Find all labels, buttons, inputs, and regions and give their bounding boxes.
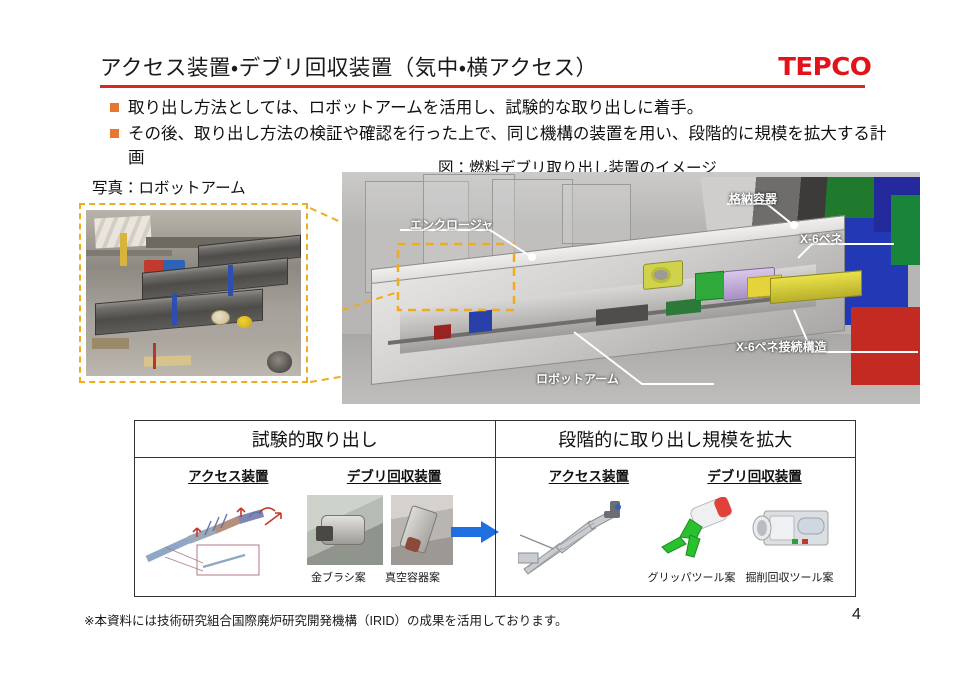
label-enclosure: エンクロージャ	[410, 216, 493, 233]
caption-drilling-recovery-tool: 掘削回収ツール案	[746, 569, 834, 585]
brush-tool-photo	[307, 495, 383, 565]
caption-gripper-tool: グリッパツール案	[648, 569, 736, 585]
robot-arm-photo-frame	[79, 203, 308, 383]
vacuum-vessel-tool-photo	[391, 495, 453, 565]
table-cell-scale-up: アクセス装置 デブリ回収装置	[495, 458, 856, 596]
access-device-diagram-right	[518, 493, 638, 581]
subhead-access-device-left: アクセス装置	[188, 465, 268, 485]
tepco-logo: TEPCO	[779, 52, 872, 81]
subhead-access-device-right: アクセス装置	[549, 465, 629, 485]
progression-arrow-icon	[451, 521, 499, 543]
gripper-tool-diagram	[656, 497, 734, 563]
square-bullet-icon	[110, 129, 119, 138]
table-header-scale-up: 段階的に取り出し規模を拡大	[495, 421, 856, 457]
slide-root: アクセス装置・デブリ回収装置（気中・横アクセス） TEPCO 取り出し方法として…	[0, 0, 963, 677]
page-title: アクセス装置・デブリ回収装置（気中・横アクセス）	[100, 51, 597, 82]
label-robot-arm: ロボットアーム	[536, 370, 619, 387]
square-bullet-icon	[110, 103, 119, 112]
title-divider	[100, 85, 865, 88]
caption-vacuum-vessel-tool: 真空容器案	[385, 569, 440, 585]
table-header-row: 試験的取り出し 段階的に取り出し規模を拡大	[135, 421, 855, 458]
drilling-recovery-tool-diagram	[748, 499, 836, 561]
source-note: ※本資料には技術研究組合国際廃炉研究開発機構（IRID）の成果を活用しております…	[84, 610, 567, 629]
label-x6-penetration: X-6ペネ	[800, 230, 843, 247]
list-item: 取り出し方法としては、ロボットアームを活用し、試験的な取り出しに着手。	[110, 96, 900, 120]
table-header-trial-retrieval: 試験的取り出し	[135, 421, 495, 457]
subhead-debris-device-left: デブリ回収装置	[347, 465, 442, 485]
label-x6-connection-structure: X-6ペネ接続構造	[736, 338, 827, 355]
table-cell-trial-retrieval: アクセス装置 デブリ回収装置	[135, 458, 495, 596]
page-number: 4	[852, 606, 861, 624]
slide-header: アクセス装置・デブリ回収装置（気中・横アクセス） TEPCO	[100, 48, 870, 84]
label-containment-vessel: 格納容器	[729, 190, 777, 207]
comparison-table: 試験的取り出し 段階的に取り出し規模を拡大 アクセス装置 デブリ回収装置	[134, 420, 856, 597]
photo-caption: 写真：ロボットアーム	[92, 176, 246, 198]
table-body: アクセス装置 デブリ回収装置	[135, 458, 855, 596]
access-device-diagram-left	[145, 497, 295, 579]
bullet-text: 取り出し方法としては、ロボットアームを活用し、試験的な取り出しに着手。	[128, 96, 703, 120]
robot-arm-photo	[86, 210, 301, 376]
subhead-debris-device-right: デブリ回収装置	[707, 465, 802, 485]
caption-brush-tool: 金ブラシ案	[311, 569, 366, 585]
debris-retrieval-figure: エンクロージャ 格納容器 X-6ペネ ロボットアーム X-6ペネ接続構造	[342, 172, 920, 404]
